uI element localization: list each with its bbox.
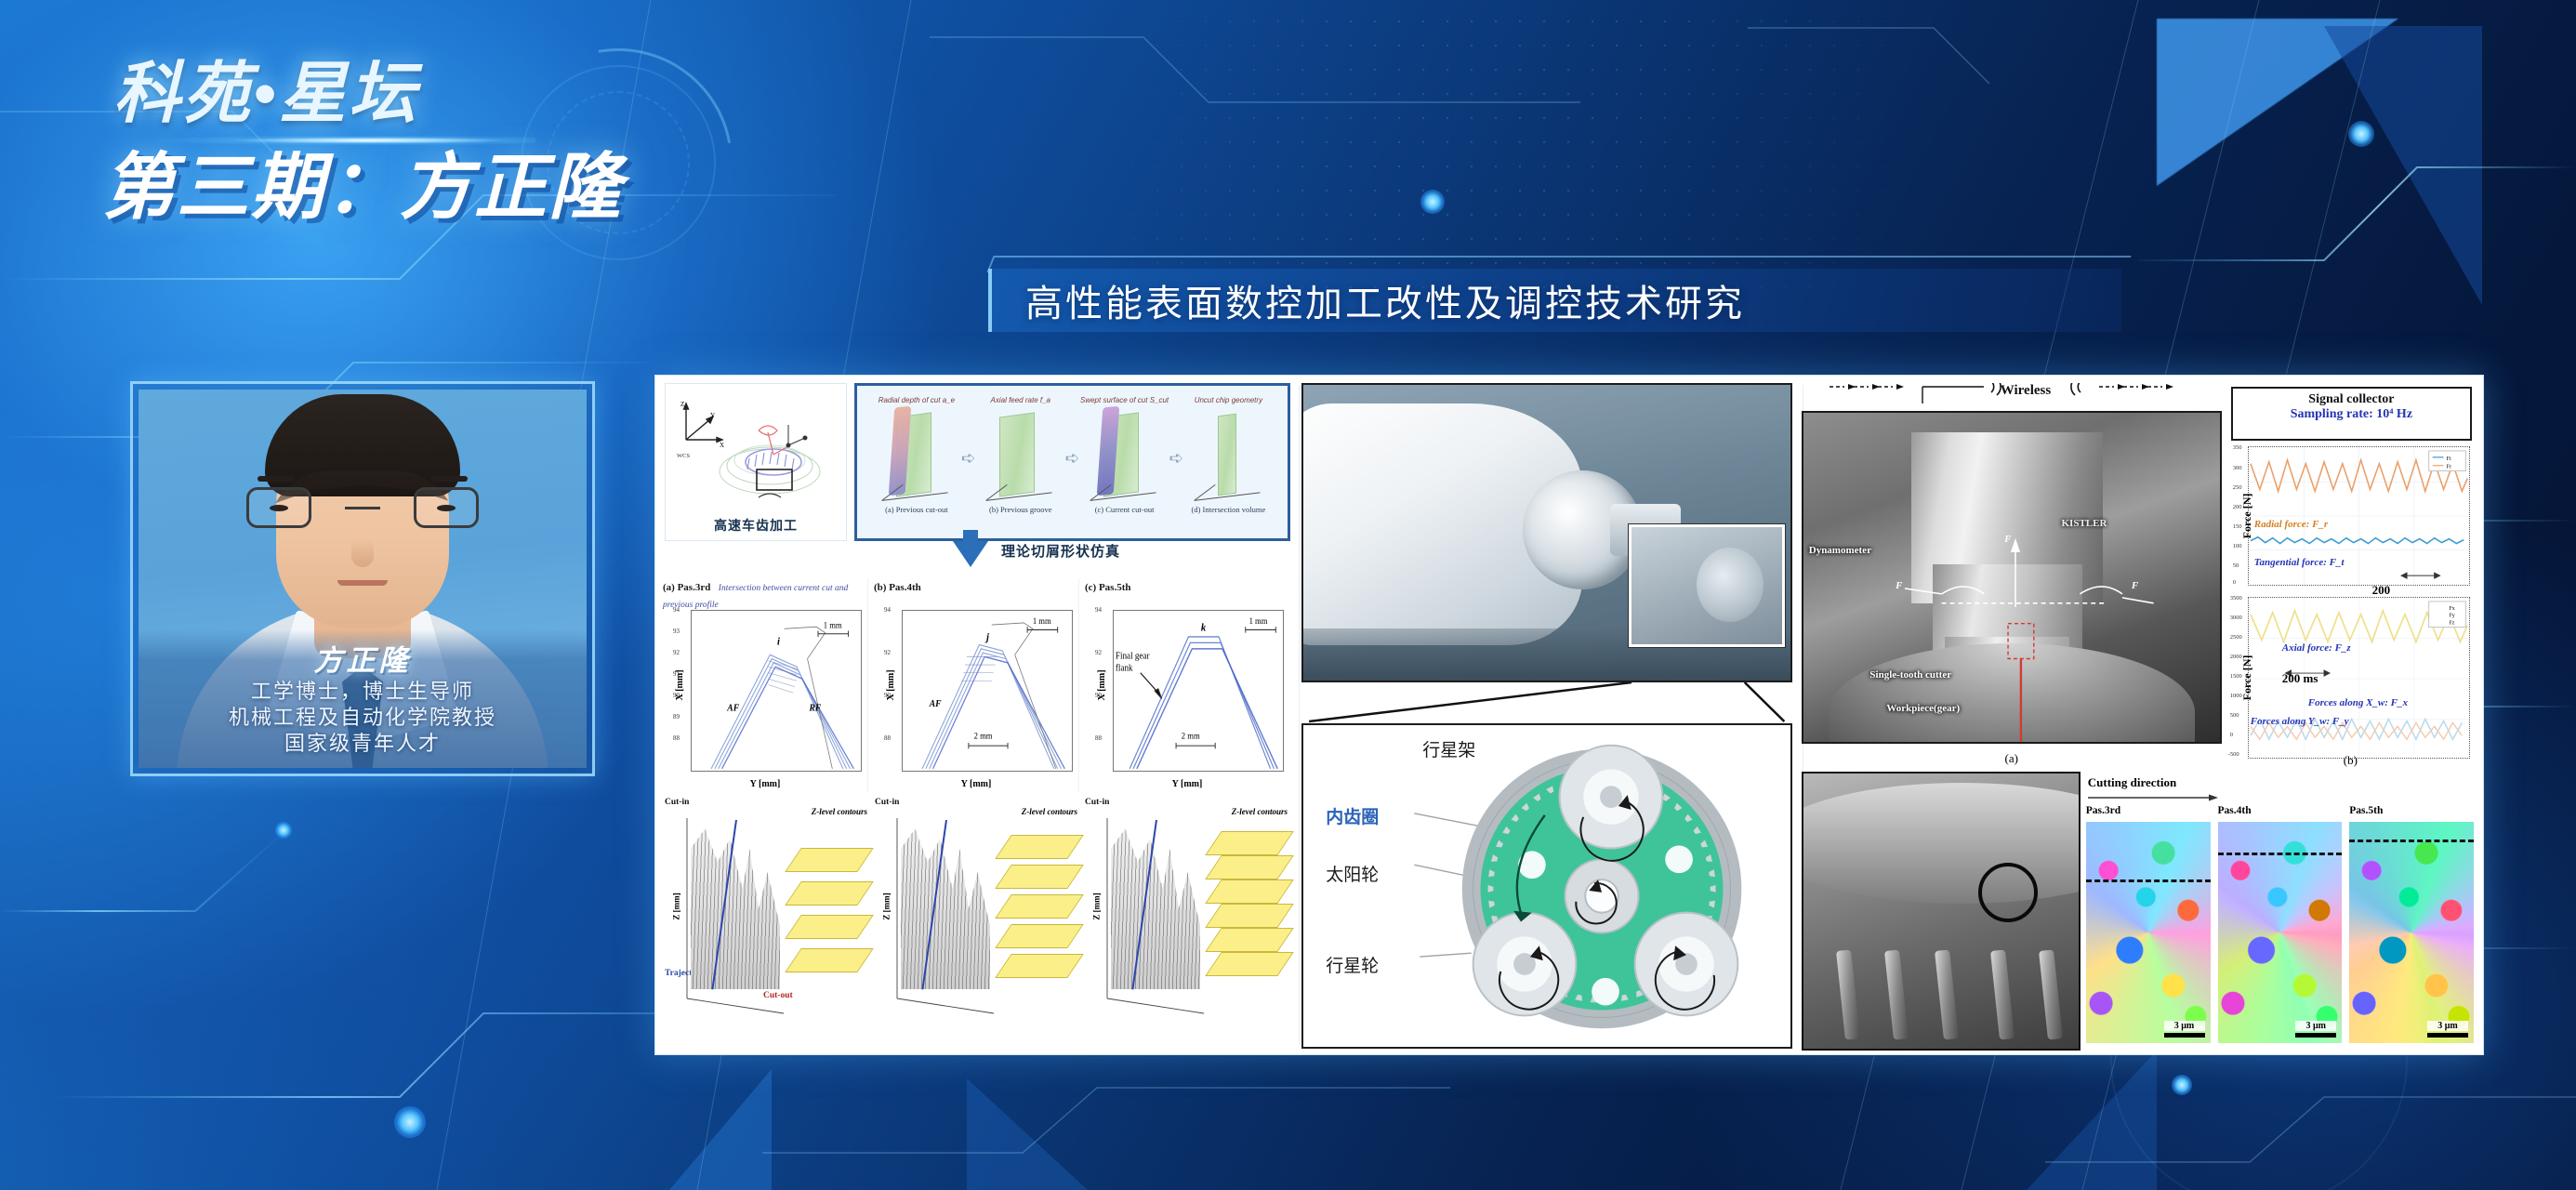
planetary-gear-diagram: 行星架 内齿圈 太阳轮 行星轮 bbox=[1301, 723, 1791, 1049]
z-level-contours bbox=[1213, 826, 1286, 984]
figure-b-caption: (b) bbox=[2226, 753, 2476, 768]
ebsd-pass-label: Pas.3rd bbox=[2086, 805, 2211, 816]
cut-in-label: Cut-in bbox=[875, 798, 899, 807]
speaker-credential-1: 工学博士，博士生导师 bbox=[139, 679, 587, 705]
force-chart-top: Ft Fr Radial force: F_r Tangential force… bbox=[2248, 446, 2470, 586]
profile-chart: (c) Pas.5th X [mm] bbox=[1085, 578, 1289, 792]
ytick: 88 bbox=[884, 734, 891, 742]
ebsd-map: Pas.5th 3 μm bbox=[2349, 805, 2474, 1047]
svg-text:RF: RF bbox=[809, 703, 822, 714]
svg-text:j: j bbox=[984, 632, 990, 644]
topic-banner: 高性能表面数控加工改性及调控技术研究 bbox=[988, 269, 2121, 332]
td-chart: Cut-in Cut-out Trajectory G Z [mm] Z-lev… bbox=[663, 796, 869, 1036]
svg-text:AF: AF bbox=[929, 699, 942, 710]
ytick: 50 bbox=[2233, 562, 2239, 569]
svg-text:F: F bbox=[2003, 534, 2012, 545]
decorative-triangle bbox=[669, 1069, 772, 1190]
time-scale-label-b: 200 ms bbox=[2282, 671, 2318, 686]
ytick: 88 bbox=[673, 734, 680, 742]
chevron-right-icon: ➪ bbox=[961, 448, 976, 469]
gearbox-inset bbox=[1629, 524, 1785, 647]
cutting-direction-arrow-icon bbox=[2088, 794, 2218, 801]
simulation-flow-label: 理论切屑形状仿真 bbox=[1001, 541, 1120, 561]
ytick: 94 bbox=[1095, 606, 1102, 614]
profile-tag-b: (b) Pas.4th bbox=[874, 582, 921, 593]
zlevel-title: Z-level contours bbox=[1022, 807, 1077, 816]
force-x-label: Forces along X_w: F_x bbox=[2308, 697, 2408, 708]
profile-chart-row: (a) Pas.3rd Intersection between current… bbox=[663, 578, 1289, 792]
presentation-slide: 科苑•星坛 第三期：方正隆 高性能表面数控加工改性及调控技术研究 bbox=[0, 0, 2576, 1190]
wcs-label: WCS bbox=[677, 453, 690, 459]
glow-node bbox=[394, 1106, 426, 1138]
svg-text:Fz: Fz bbox=[2449, 621, 2454, 627]
speaker-name: 方正隆 bbox=[139, 637, 587, 679]
episode-title: 第三期：方正隆 bbox=[89, 147, 777, 228]
speaker-card: 方正隆 工学博士，博士生导师 机械工程及自动化学院教授 国家级青年人才 bbox=[130, 381, 595, 776]
wind-turbine-photo bbox=[1301, 383, 1791, 682]
sim-caption-c: (c) Current cut-out bbox=[1073, 505, 1177, 514]
svg-text:1 mm: 1 mm bbox=[824, 620, 842, 630]
ebsd-map: Pas.4th 3 μm bbox=[2218, 805, 2343, 1047]
signal-collector-title: Signal collector bbox=[2233, 392, 2470, 407]
z-level-contours bbox=[1003, 826, 1076, 984]
svg-text:1 mm: 1 mm bbox=[1033, 616, 1051, 627]
ytick: 93 bbox=[673, 628, 680, 635]
experiment-setup-photo: Wireless Dynamometer KISTLER Single-toot… bbox=[1802, 381, 2222, 770]
force-ylabel-top: Force [N] bbox=[2240, 494, 2254, 539]
decorative-triangle bbox=[2157, 19, 2398, 186]
ebsd-pass-label: Pas.5th bbox=[2349, 805, 2474, 816]
ytick: 250 bbox=[2233, 484, 2242, 491]
force-vector-overlay: F F F bbox=[1803, 413, 2220, 742]
ytick: 150 bbox=[2233, 523, 2242, 530]
scale-bar-label: 3 μm bbox=[2427, 1021, 2468, 1031]
ytick: 92 bbox=[673, 649, 680, 656]
ebsd-map: Pas.3rd 3 μm bbox=[2086, 805, 2211, 1047]
signal-collector-box: Signal collector Sampling rate: 10⁴ Hz bbox=[2231, 387, 2472, 441]
sim-caption-a: (a) Previous cut-out bbox=[865, 505, 969, 514]
decorative-triangle bbox=[2027, 1051, 2157, 1190]
ytick: 92 bbox=[884, 649, 891, 656]
svg-text:1 mm: 1 mm bbox=[1249, 616, 1268, 627]
series-title: 科苑•星坛 bbox=[89, 59, 777, 130]
ebsd-column: Cutting direction Pas.3rd 3 μm bbox=[2084, 772, 2476, 1051]
svg-text:Final gear: Final gear bbox=[1116, 651, 1150, 662]
figure-a-caption: (a) bbox=[1802, 751, 2222, 766]
experiment-top-row: Wireless Dynamometer KISTLER Single-toot… bbox=[1802, 381, 2476, 770]
process-caption: 高速车齿加工 bbox=[666, 516, 846, 535]
svg-text:Y: Y bbox=[710, 412, 715, 419]
ytick: 100 bbox=[2233, 543, 2242, 549]
profile-xlabel-b: Y [mm] bbox=[874, 779, 1078, 789]
svg-text:flank: flank bbox=[1116, 663, 1133, 674]
svg-text:Ft: Ft bbox=[2446, 456, 2451, 462]
sim-cell: ➪ Swept surface of cut S_cut (c) Current… bbox=[1073, 395, 1177, 516]
figure-column-process: Z X Y WCS bbox=[655, 376, 1296, 1054]
svg-text:F: F bbox=[1895, 580, 1903, 591]
ytick: 94 bbox=[673, 606, 680, 614]
flow-arrow-down-icon bbox=[953, 541, 988, 567]
sim-caption-b: (b) Previous groove bbox=[969, 505, 1073, 514]
force-ylabel-bottom: Force [N] bbox=[2240, 655, 2254, 701]
zlevel-title: Z-level contours bbox=[1232, 807, 1288, 816]
sim-top-label-2: Axial feed rate f_a bbox=[969, 396, 1073, 404]
sim-top-label-4: Uncut chip geometry bbox=[1176, 396, 1280, 404]
ytick: 3000 bbox=[2230, 615, 2242, 621]
process-row: Z X Y WCS bbox=[665, 383, 1290, 541]
ytick: 2500 bbox=[2230, 634, 2242, 641]
axial-force-label: Axial force: F_z bbox=[2282, 642, 2351, 654]
planetary-gear-svg bbox=[1303, 725, 1790, 1047]
td-ylabel: Z [mm] bbox=[1092, 892, 1102, 919]
sim-top-label-1: Radial depth of cut a_e bbox=[865, 396, 969, 404]
svg-text:F: F bbox=[2131, 580, 2139, 591]
svg-text:Z: Z bbox=[680, 401, 684, 408]
scale-bar-label: 3 μm bbox=[2164, 1021, 2205, 1031]
ytick: 91 bbox=[673, 670, 680, 678]
wireless-label: Wireless bbox=[2001, 383, 2051, 399]
td-ylabel: Z [mm] bbox=[672, 892, 681, 919]
ytick: 1000 bbox=[2230, 693, 2242, 699]
chip-simulation-panel: Radial depth of cut a_e (a) Previous cut… bbox=[854, 383, 1290, 541]
cut-in-label: Cut-in bbox=[665, 798, 689, 807]
scale-bar-label: 3 μm bbox=[2295, 1021, 2336, 1031]
ytick: 200 bbox=[2233, 504, 2242, 510]
sampling-rate-label: Sampling rate: 10⁴ Hz bbox=[2233, 407, 2470, 422]
force-charts-column: Signal collector Sampling rate: 10⁴ Hz bbox=[2226, 381, 2476, 770]
sim-top-label-3: Swept surface of cut S_cut bbox=[1073, 396, 1177, 404]
ytick: 0 bbox=[2233, 579, 2236, 586]
experiment-bottom-row: Cutting direction Pas.3rd 3 μm bbox=[1802, 772, 2476, 1051]
machined-gear-photo bbox=[1802, 772, 2081, 1051]
glow-node bbox=[275, 822, 292, 839]
research-figure-panel: Z X Y WCS bbox=[654, 375, 2484, 1055]
ytick: 3500 bbox=[2230, 595, 2242, 602]
profile-tag-c: (c) Pas.5th bbox=[1085, 582, 1131, 593]
force-chart-bottom: Fx Fy Fz Axial force: F_z 200 ms Forces … bbox=[2248, 597, 2470, 759]
speaker-credential-2: 机械工程及自动化学院教授 bbox=[139, 705, 587, 731]
ytick: 90 bbox=[1095, 692, 1102, 699]
highlight-circle bbox=[1978, 863, 2038, 922]
svg-text:Fy: Fy bbox=[2449, 614, 2454, 619]
ytick: 89 bbox=[673, 713, 680, 721]
decorative-triangle bbox=[2324, 26, 2482, 305]
svg-text:Fr: Fr bbox=[2446, 465, 2451, 470]
decorative-triangle bbox=[967, 1078, 1088, 1190]
glow-node bbox=[2348, 121, 2374, 147]
zoom-funnel-connector bbox=[1301, 682, 1791, 723]
figure-column-gearbox: 行星架 内齿圈 太阳轮 行星轮 bbox=[1296, 376, 1797, 1054]
title-block: 科苑•星坛 第三期：方正隆 bbox=[89, 59, 777, 228]
td-chart: Cut-in Cut-out Z [mm] Z-level contours bbox=[1083, 796, 1289, 1036]
td-chart-row: Cut-in Cut-out Trajectory G Z [mm] Z-lev… bbox=[663, 796, 1289, 1036]
z-level-contours bbox=[793, 826, 865, 984]
time-scale-label: 200 bbox=[2372, 583, 2391, 598]
ytick: 0 bbox=[2230, 732, 2233, 738]
svg-text:i: i bbox=[777, 636, 781, 648]
machine-photo-frame: Dynamometer KISTLER Single-tooth cutter … bbox=[1802, 411, 2222, 744]
sim-cell: ➪ Axial feed rate f_a (b) Previous groov… bbox=[969, 395, 1073, 516]
speaker-name-overlay: 方正隆 工学博士，博士生导师 机械工程及自动化学院教授 国家级青年人才 bbox=[139, 629, 587, 768]
title-underglow bbox=[99, 136, 535, 145]
topic-title: 高性能表面数控加工改性及调控技术研究 bbox=[992, 273, 1745, 327]
ytick: 88 bbox=[1095, 734, 1102, 742]
sim-cell: ➪ Uncut chip geometry (d) Intersection v… bbox=[1176, 395, 1280, 516]
cutting-direction-label: Cutting direction bbox=[2088, 775, 2176, 790]
ytick: 1500 bbox=[2230, 673, 2242, 680]
svg-text:AF: AF bbox=[726, 703, 739, 714]
figure-column-experiment: Wireless Dynamometer KISTLER Single-toot… bbox=[1798, 376, 2483, 1054]
gear-trajectory-sketch bbox=[716, 417, 827, 507]
profile-xlabel-c: Y [mm] bbox=[1085, 779, 1289, 789]
tangential-force-label: Tangential force: F_t bbox=[2254, 557, 2345, 568]
svg-text:Fx: Fx bbox=[2449, 606, 2454, 612]
gear-turning-sketch: Z X Y WCS bbox=[665, 383, 847, 541]
speaker-photo: 方正隆 工学博士，博士生导师 机械工程及自动化学院教授 国家级青年人才 bbox=[139, 390, 587, 768]
speaker-credential-3: 国家级青年人才 bbox=[139, 731, 587, 757]
profile-tag-a: (a) Pas.3rd bbox=[663, 582, 710, 593]
ytick: 300 bbox=[2233, 465, 2242, 471]
svg-text:2 mm: 2 mm bbox=[974, 731, 993, 741]
sim-cell: Radial depth of cut a_e (a) Previous cut… bbox=[865, 395, 969, 516]
chevron-right-icon: ➪ bbox=[1169, 448, 1183, 469]
profile-chart: (b) Pas.4th X [mm] bbox=[874, 578, 1079, 792]
cut-in-label: Cut-in bbox=[1085, 798, 1109, 807]
cut-out-label: Cut-out bbox=[763, 991, 793, 1000]
force-y-label: Forces along Y_w: F_y bbox=[2251, 716, 2349, 727]
ytick: 350 bbox=[2233, 444, 2242, 451]
profile-xlabel-a: Y [mm] bbox=[663, 779, 867, 789]
ytick: 90 bbox=[884, 692, 891, 699]
glow-node bbox=[1420, 190, 1445, 214]
sim-caption-d: (d) Intersection volume bbox=[1176, 505, 1280, 514]
ytick: 2000 bbox=[2230, 654, 2242, 660]
svg-text:2 mm: 2 mm bbox=[1182, 731, 1200, 741]
glow-node bbox=[2172, 1075, 2192, 1095]
zlevel-title: Z-level contours bbox=[812, 807, 867, 816]
profile-chart: (a) Pas.3rd Intersection between current… bbox=[663, 578, 868, 792]
svg-text:k: k bbox=[1201, 622, 1207, 634]
ytick: 500 bbox=[2230, 712, 2239, 719]
ytick: 90 bbox=[673, 692, 680, 699]
chevron-right-icon: ➪ bbox=[1065, 448, 1080, 469]
td-ylabel: Z [mm] bbox=[882, 892, 892, 919]
ytick: 92 bbox=[1095, 649, 1102, 656]
ebsd-pass-label: Pas.4th bbox=[2218, 805, 2343, 816]
radial-force-label: Radial force: F_r bbox=[2254, 519, 2328, 530]
td-chart: Cut-in Cut-out Z [mm] Z-level contours bbox=[873, 796, 1079, 1036]
ytick: 94 bbox=[884, 606, 891, 614]
